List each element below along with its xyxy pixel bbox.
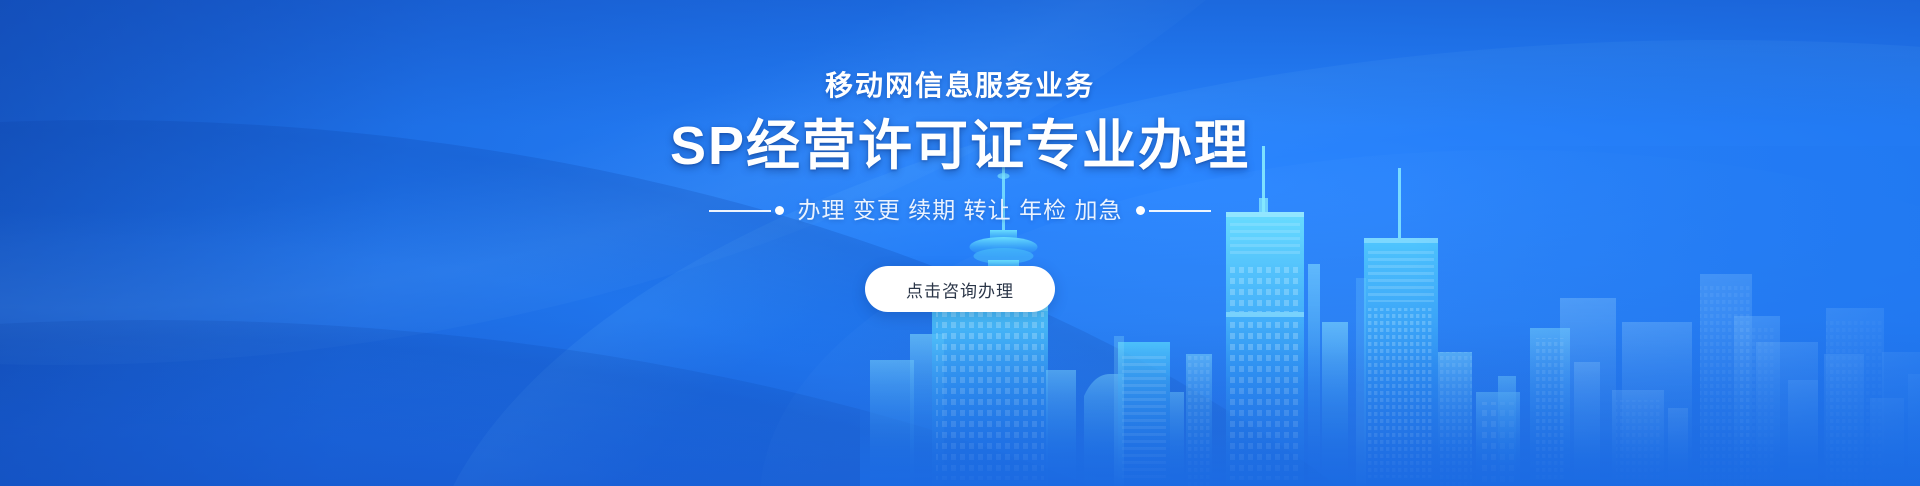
- banner-headline: SP经营许可证专业办理: [670, 119, 1250, 173]
- consult-cta-button[interactable]: 点击咨询办理: [865, 266, 1055, 312]
- divider-left-icon: [709, 206, 784, 215]
- divider-right-icon: [1136, 206, 1211, 215]
- service-list: 办理 变更 续期 转让 年检 加急: [709, 199, 1212, 222]
- promo-banner: 移动网信息服务业务 SP经营许可证专业办理 办理 变更 续期 转让 年检 加急 …: [0, 0, 1920, 486]
- service-list-text: 办理 变更 续期 转让 年检 加急: [798, 199, 1123, 222]
- banner-subtitle: 移动网信息服务业务: [825, 72, 1095, 100]
- banner-content: 移动网信息服务业务 SP经营许可证专业办理 办理 变更 续期 转让 年检 加急 …: [0, 0, 1920, 486]
